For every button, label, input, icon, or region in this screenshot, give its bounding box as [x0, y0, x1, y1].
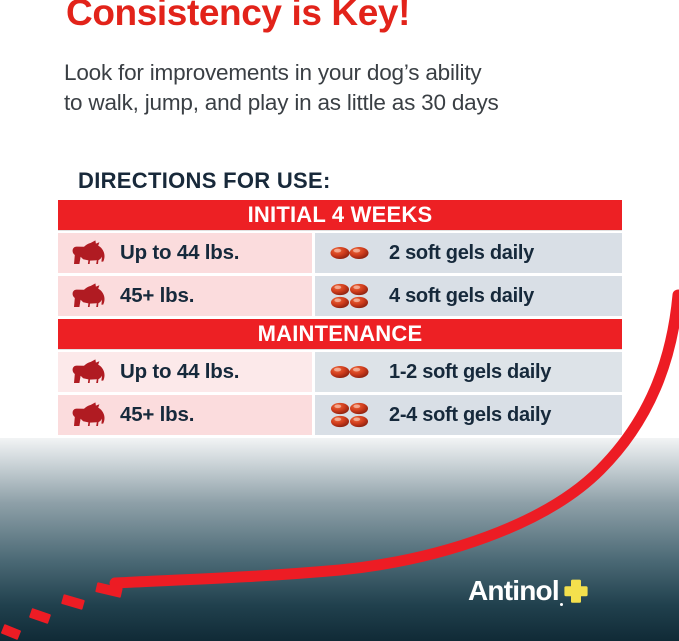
weight-cell: 45+ lbs.: [58, 276, 312, 316]
dose-cell: 4 soft gels daily: [315, 276, 622, 316]
subtitle-line-2: to walk, jump, and play in as little as …: [64, 88, 634, 118]
soft-gel-icon: [329, 238, 373, 268]
dog-icon: [70, 240, 108, 266]
dose-label: 4 soft gels daily: [389, 285, 534, 308]
weight-cell: Up to 44 lbs.: [58, 352, 312, 392]
dose-label: 1-2 soft gels daily: [389, 361, 551, 384]
dog-icon: [70, 283, 108, 309]
soft-gel-icon: [329, 400, 373, 430]
dose-label: 2-4 soft gels daily: [389, 404, 551, 427]
dog-icon: [70, 402, 108, 428]
weight-cell: 45+ lbs.: [58, 395, 312, 435]
brand-wordmark-text: Antinol: [468, 575, 559, 606]
weight-label: 45+ lbs.: [120, 284, 194, 308]
page-title: Consistency is Key!: [66, 0, 410, 35]
brand-logo: Antinol: [468, 575, 589, 607]
soft-gel-icon: [329, 357, 373, 387]
dog-icon: [70, 359, 108, 385]
plus-icon: [563, 578, 589, 604]
table-band-initial: INITIAL 4 WEEKS: [58, 200, 622, 230]
dose-cell: 2 soft gels daily: [315, 233, 622, 273]
weight-label: Up to 44 lbs.: [120, 360, 239, 384]
dose-cell: 2-4 soft gels daily: [315, 395, 622, 435]
dose-label: 2 soft gels daily: [389, 242, 534, 265]
table-row: 45+ lbs. 4 soft gels daily: [58, 276, 622, 316]
subtitle-line-1: Look for improvements in your dog’s abil…: [64, 58, 634, 88]
registered-dot: [560, 603, 563, 606]
directions-heading: DIRECTIONS FOR USE:: [78, 168, 331, 194]
weight-cell: Up to 44 lbs.: [58, 233, 312, 273]
brand-wordmark: Antinol: [468, 575, 559, 607]
gradient-background: [0, 438, 679, 641]
soft-gel-icon: [329, 281, 373, 311]
promo-graphic: Consistency is Key! Look for improvement…: [0, 0, 679, 641]
weight-label: Up to 44 lbs.: [120, 241, 239, 265]
subtitle: Look for improvements in your dog’s abil…: [64, 58, 634, 118]
table-band-maintenance: MAINTENANCE: [58, 319, 622, 349]
table-row: Up to 44 lbs. 2 soft ge: [58, 233, 622, 273]
dosage-table: INITIAL 4 WEEKS Up to 44 lbs.: [58, 200, 622, 435]
table-row: 45+ lbs. 2-4 soft gels daily: [58, 395, 622, 435]
dose-cell: 1-2 soft gels daily: [315, 352, 622, 392]
table-row: Up to 44 lbs. 1-2 soft gels daily: [58, 352, 622, 392]
weight-label: 45+ lbs.: [120, 403, 194, 427]
